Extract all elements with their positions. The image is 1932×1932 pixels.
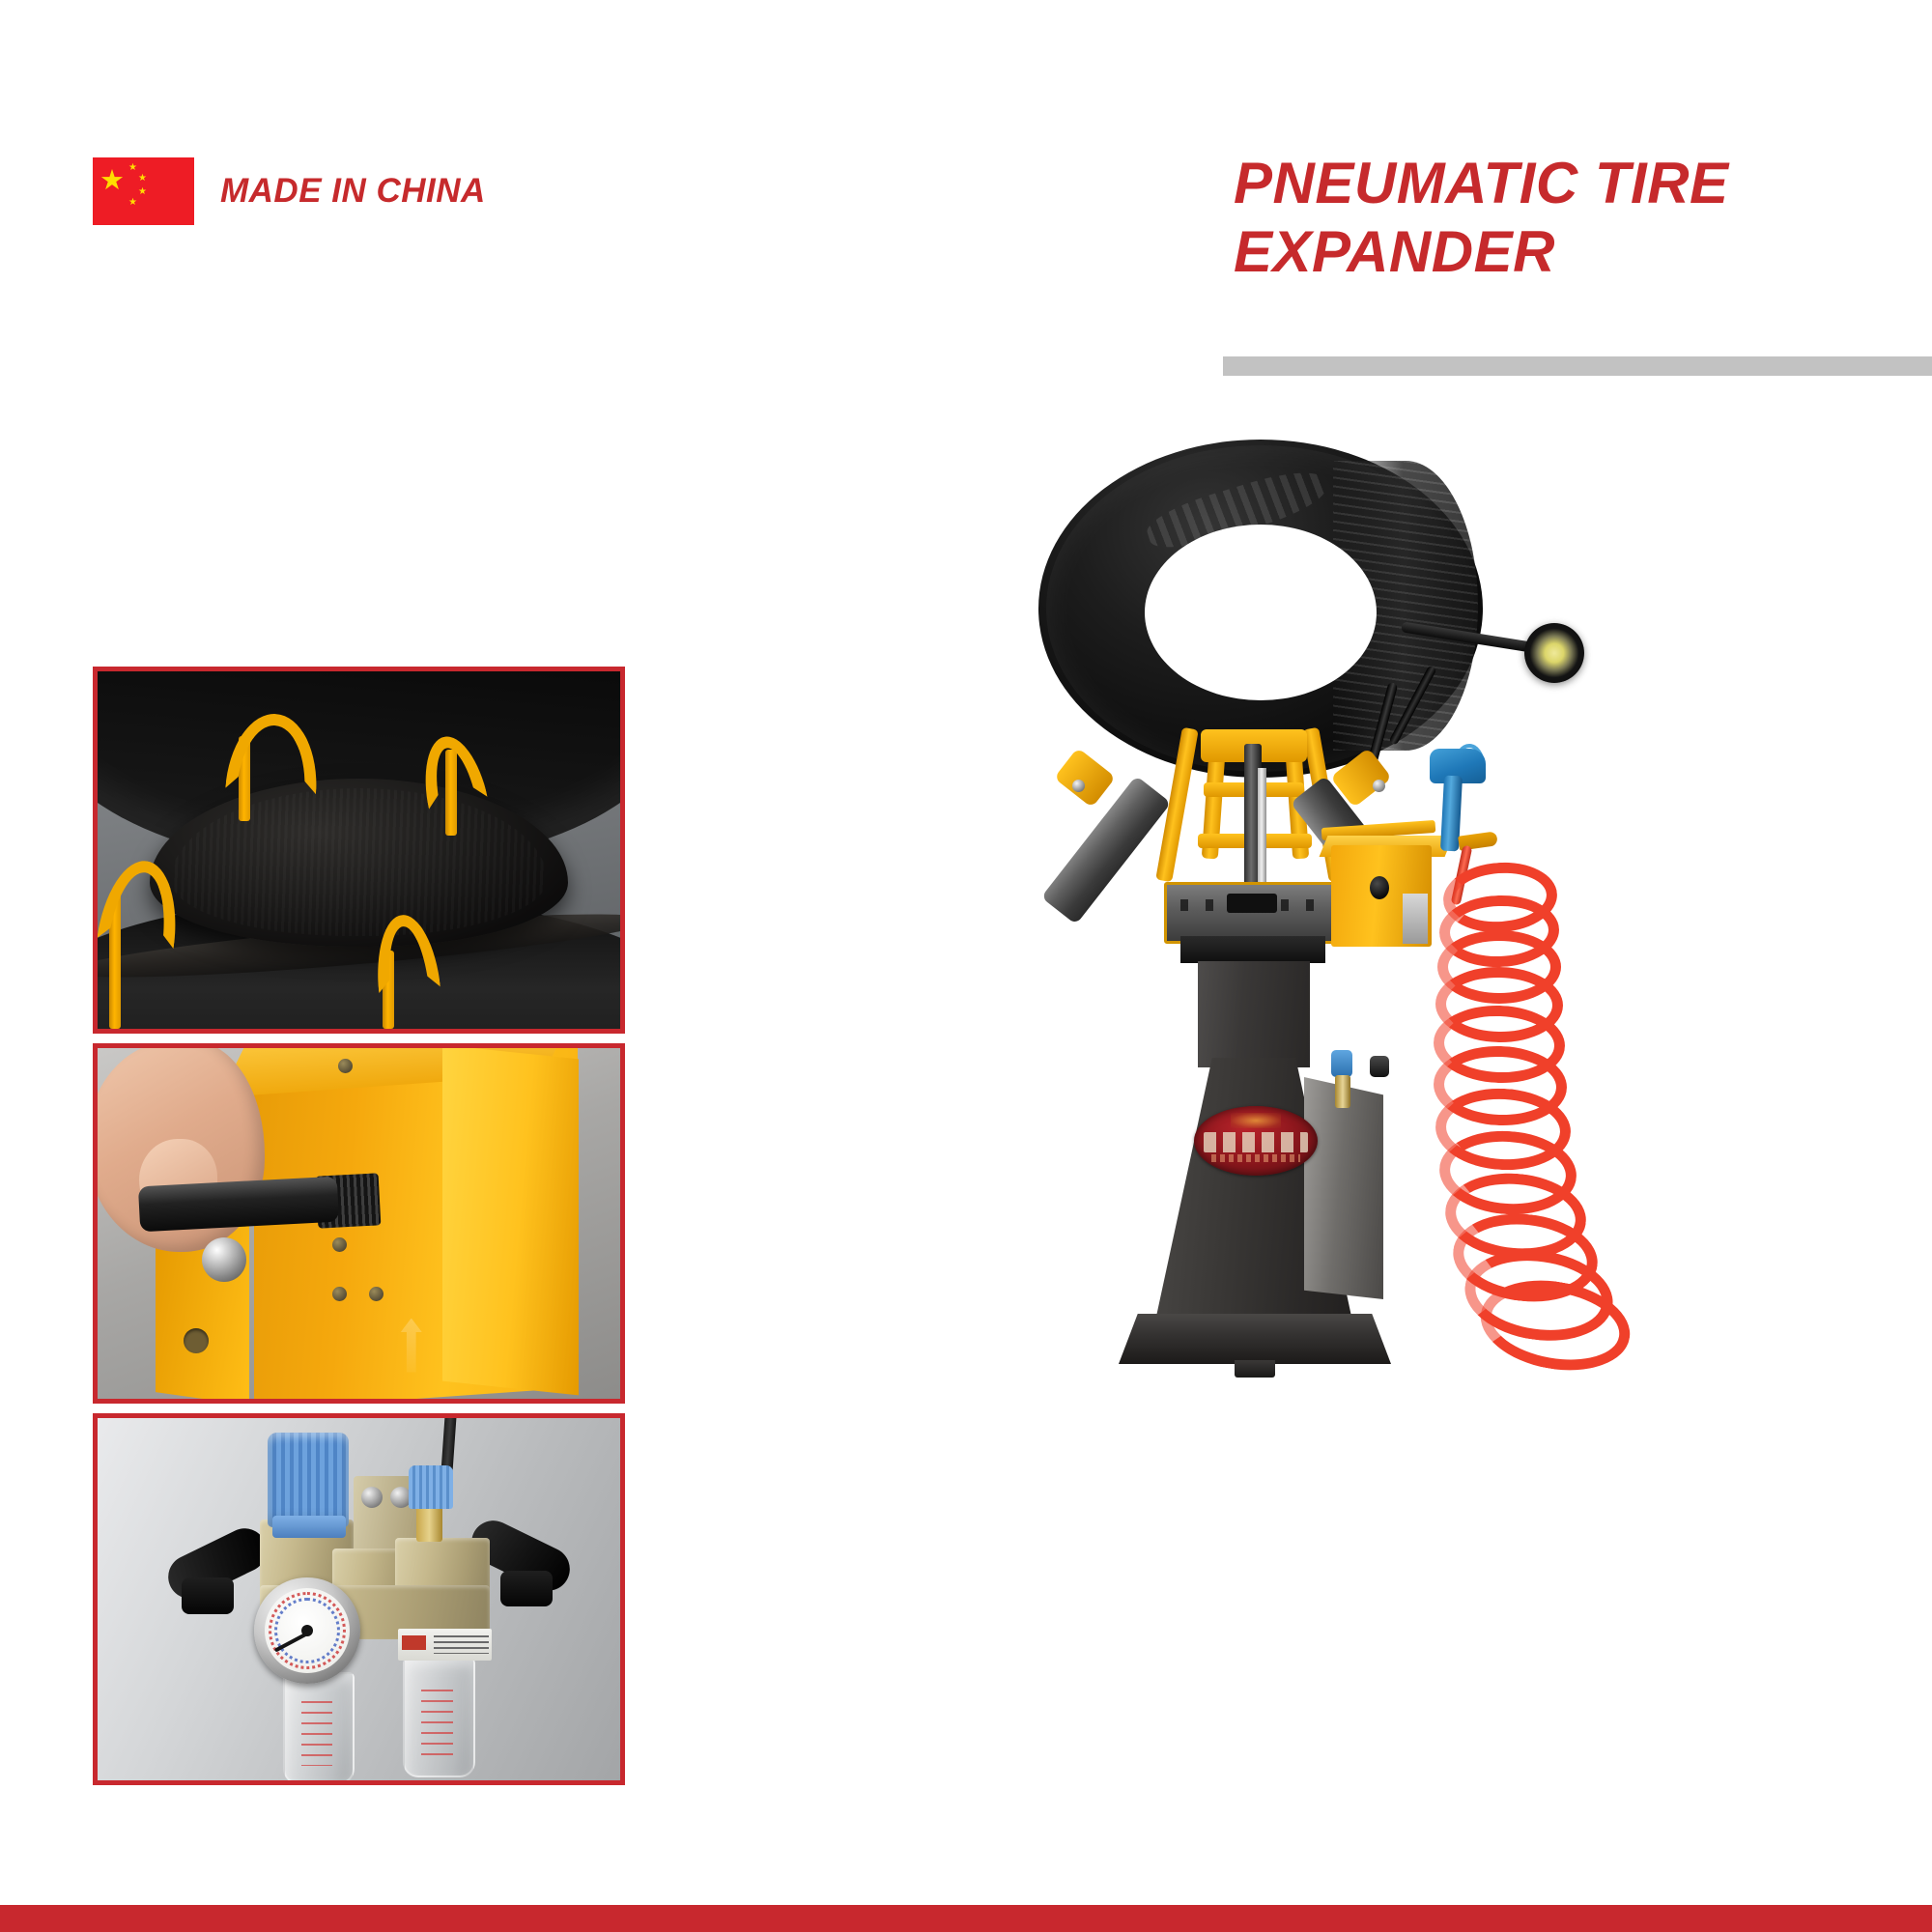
brass-fitting bbox=[1335, 1075, 1350, 1108]
gearbox-slot bbox=[1227, 894, 1277, 913]
lubricator-spec-label bbox=[398, 1629, 492, 1662]
housing-right-face bbox=[442, 1048, 579, 1395]
housing-screw-top bbox=[338, 1059, 353, 1073]
footer-accent-bar bbox=[0, 1905, 1932, 1932]
regulator-knob-collar bbox=[272, 1516, 346, 1538]
page-title-line-1: PNEUMATIC TIRE bbox=[1234, 150, 1910, 218]
pedestal-foot bbox=[1235, 1360, 1275, 1378]
elbow-body-left bbox=[182, 1577, 234, 1614]
badge-chinese-characters bbox=[1204, 1132, 1308, 1151]
valve-port bbox=[1370, 876, 1389, 899]
red-coiled-air-hose bbox=[1410, 845, 1662, 1348]
cylinder-cap-left bbox=[1054, 748, 1116, 808]
made-in-china-badge: ★ ★ ★ ★ ★ MADE IN CHINA bbox=[93, 157, 486, 225]
photo-collage bbox=[93, 667, 625, 1785]
blue-control-knob[interactable] bbox=[1331, 1050, 1352, 1077]
panel-image-air-regulator bbox=[98, 1418, 620, 1780]
title-underline-bar bbox=[1223, 356, 1932, 376]
photo-panel-control-lever bbox=[93, 1043, 625, 1404]
lubricator-bowl-scale bbox=[421, 1690, 452, 1758]
elbow-body-right bbox=[500, 1571, 553, 1607]
led-work-light-icon bbox=[1524, 623, 1584, 683]
flag-star-small-2: ★ bbox=[138, 174, 147, 184]
filter-bowl-scale bbox=[301, 1701, 332, 1767]
side-control-rail bbox=[1304, 1077, 1383, 1299]
black-control-knob[interactable] bbox=[1370, 1056, 1389, 1077]
china-flag-icon: ★ ★ ★ ★ ★ bbox=[93, 157, 194, 225]
badge-subtitle-text bbox=[1211, 1154, 1300, 1161]
page-title: PNEUMATIC TIRE EXPANDER bbox=[1234, 150, 1910, 287]
product-photo bbox=[1014, 440, 1826, 1773]
cylinder-pivot-right bbox=[1373, 780, 1385, 792]
panel-image-tire-spread bbox=[98, 671, 620, 1029]
panel-image-control-lever bbox=[98, 1048, 620, 1399]
pressure-gauge bbox=[254, 1577, 360, 1684]
made-in-china-label: MADE IN CHINA bbox=[220, 172, 486, 211]
machine-column bbox=[1198, 961, 1310, 1067]
brand-badge bbox=[1194, 1106, 1318, 1176]
lubricator-adjust-knob[interactable] bbox=[409, 1465, 453, 1509]
flag-star-large: ★ bbox=[99, 166, 125, 194]
gearbox-housing bbox=[1164, 882, 1344, 944]
gearbox-subplate bbox=[1180, 936, 1325, 963]
photo-panel-air-regulator bbox=[93, 1413, 625, 1785]
cylinder-pivot-left bbox=[1072, 780, 1085, 792]
pedestal-base-plate bbox=[1119, 1314, 1391, 1364]
flag-star-small-1: ★ bbox=[128, 163, 137, 173]
pneumatic-cylinder-left bbox=[1041, 776, 1172, 924]
flag-star-small-4: ★ bbox=[128, 198, 137, 208]
page-title-line-2: EXPANDER bbox=[1234, 218, 1910, 287]
tire-inner-opening bbox=[1145, 525, 1377, 700]
badge-top-ornament bbox=[1231, 1113, 1280, 1128]
flag-star-small-3: ★ bbox=[138, 187, 147, 197]
regulator-adjust-knob[interactable] bbox=[268, 1433, 349, 1527]
chrome-ball-joint bbox=[202, 1237, 246, 1282]
photo-panel-tire-spread bbox=[93, 667, 625, 1034]
